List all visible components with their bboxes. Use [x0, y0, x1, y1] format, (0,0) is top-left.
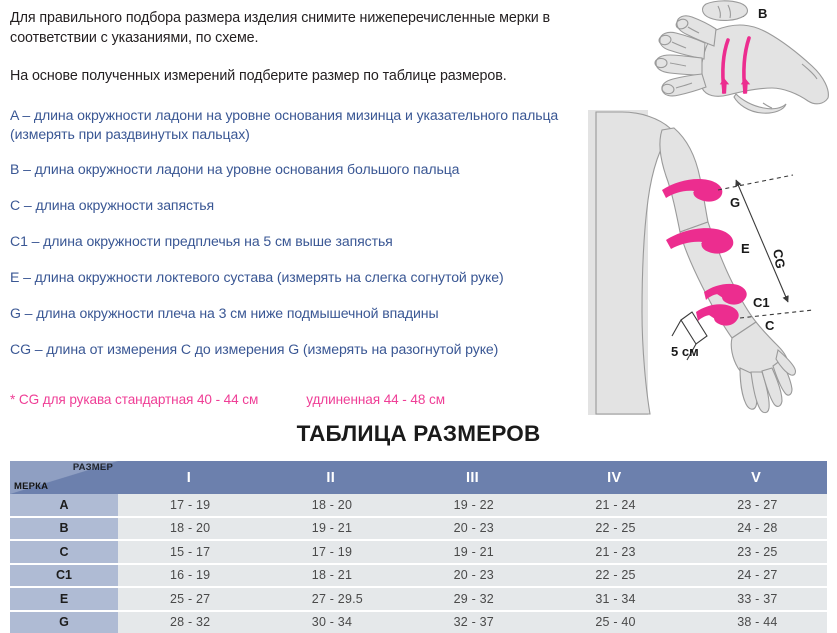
size-table: РАЗМЕР МЕРКА I II III IV V A 17 - 19 18 …	[10, 461, 827, 633]
arm-label-c1: C1	[753, 295, 770, 310]
measurement-item-cg: CG – длина от измерения C до измерения G…	[10, 340, 588, 359]
measurement-item-g: G – длина окружности плеча на 3 см ниже …	[10, 304, 588, 323]
cell-c-ii: 17 - 19	[260, 540, 402, 564]
cell-a-iv: 21 - 24	[543, 494, 685, 517]
cell-c1-i: 16 - 19	[118, 564, 260, 588]
row-label-c: C	[10, 540, 118, 564]
measurement-item-a: A – длина окружности ладони на уровне ос…	[10, 106, 588, 144]
table-row: C1 16 - 19 18 - 21 20 - 23 22 - 25 24 - …	[10, 564, 827, 588]
column-header-iv: IV	[543, 461, 685, 494]
column-header-v: V	[685, 461, 827, 494]
corner-measure-label: МЕРКА	[14, 481, 48, 492]
row-label-c1: C1	[10, 564, 118, 588]
row-label-b: B	[10, 517, 118, 541]
cell-g-v: 38 - 44	[685, 611, 827, 633]
row-label-g: G	[10, 611, 118, 633]
cell-c1-iv: 22 - 25	[543, 564, 685, 588]
cell-b-i: 18 - 20	[118, 517, 260, 541]
cell-c1-ii: 18 - 21	[260, 564, 402, 588]
table-title: ТАБЛИЦА РАЗМЕРОВ	[0, 421, 837, 447]
column-header-iii: III	[402, 461, 544, 494]
cell-c1-iii: 20 - 23	[402, 564, 544, 588]
cell-c-i: 15 - 17	[118, 540, 260, 564]
cell-b-iii: 20 - 23	[402, 517, 544, 541]
table-row: A 17 - 19 18 - 20 19 - 22 21 - 24 23 - 2…	[10, 494, 827, 517]
table-row: C 15 - 17 17 - 19 19 - 21 21 - 23 23 - 2…	[10, 540, 827, 564]
arm-label-c: C	[765, 318, 775, 333]
column-header-i: I	[118, 461, 260, 494]
corner-size-label: РАЗМЕР	[73, 462, 113, 473]
intro-paragraph-2: На основе полученных измерений подберите…	[10, 66, 588, 86]
measurement-item-e: E – длина окружности локтевого сустава (…	[10, 268, 588, 287]
cell-e-i: 25 - 27	[118, 587, 260, 611]
cell-b-ii: 19 - 21	[260, 517, 402, 541]
cell-e-iv: 31 - 34	[543, 587, 685, 611]
cell-a-i: 17 - 19	[118, 494, 260, 517]
cell-b-iv: 22 - 25	[543, 517, 685, 541]
cell-a-iii: 19 - 22	[402, 494, 544, 517]
measurement-item-c: C – длина окружности запястья	[10, 196, 588, 215]
cell-e-ii: 27 - 29.5	[260, 587, 402, 611]
cg-note-standard: * CG для рукава стандартная 40 - 44 см	[10, 392, 258, 407]
table-row: E 25 - 27 27 - 29.5 29 - 32 31 - 34 33 -…	[10, 587, 827, 611]
arm-label-g: G	[730, 195, 740, 210]
instructions-panel: Для правильного подбора размера изделия …	[10, 8, 588, 376]
column-header-ii: II	[260, 461, 402, 494]
cell-b-v: 24 - 28	[685, 517, 827, 541]
cell-e-v: 33 - 37	[685, 587, 827, 611]
cell-a-v: 23 - 27	[685, 494, 827, 517]
cell-c-iii: 19 - 21	[402, 540, 544, 564]
cell-g-iii: 32 - 37	[402, 611, 544, 633]
band-c	[696, 304, 739, 325]
table-header-row: РАЗМЕР МЕРКА I II III IV V	[10, 461, 827, 494]
cell-g-iv: 25 - 40	[543, 611, 685, 633]
table-corner-cell: РАЗМЕР МЕРКА	[10, 461, 118, 494]
cell-c-iv: 21 - 23	[543, 540, 685, 564]
cell-g-i: 28 - 32	[118, 611, 260, 633]
measurement-item-b: B – длина окружности ладони на уровне ос…	[10, 160, 588, 179]
cell-g-ii: 30 - 34	[260, 611, 402, 633]
hand-label-b: B	[758, 6, 767, 21]
cg-note-extended: удлиненная 44 - 48 см	[306, 392, 445, 407]
cell-c1-v: 24 - 27	[685, 564, 827, 588]
table-row: G 28 - 32 30 - 34 32 - 37 25 - 40 38 - 4…	[10, 611, 827, 633]
table-row: B 18 - 20 19 - 21 20 - 23 22 - 25 24 - 2…	[10, 517, 827, 541]
intro-paragraph-1: Для правильного подбора размера изделия …	[10, 8, 588, 48]
cg-sleeve-note: * CG для рукава стандартная 40 - 44 смуд…	[10, 392, 588, 407]
distance-label-5cm: 5 см	[671, 344, 699, 359]
arm-label-e: E	[741, 241, 750, 256]
measurement-illustration: .sk { fill:#e3e3e3; stroke:#9a9a9a; stro…	[588, 0, 837, 415]
cell-a-ii: 18 - 20	[260, 494, 402, 517]
hand-diagram: A B	[655, 5, 828, 113]
row-label-a: A	[10, 494, 118, 517]
row-label-e: E	[10, 587, 118, 611]
cell-e-iii: 29 - 32	[402, 587, 544, 611]
measurement-item-c1: C1 – длина окружности предплечья на 5 см…	[10, 232, 588, 251]
cell-c-v: 23 - 25	[685, 540, 827, 564]
